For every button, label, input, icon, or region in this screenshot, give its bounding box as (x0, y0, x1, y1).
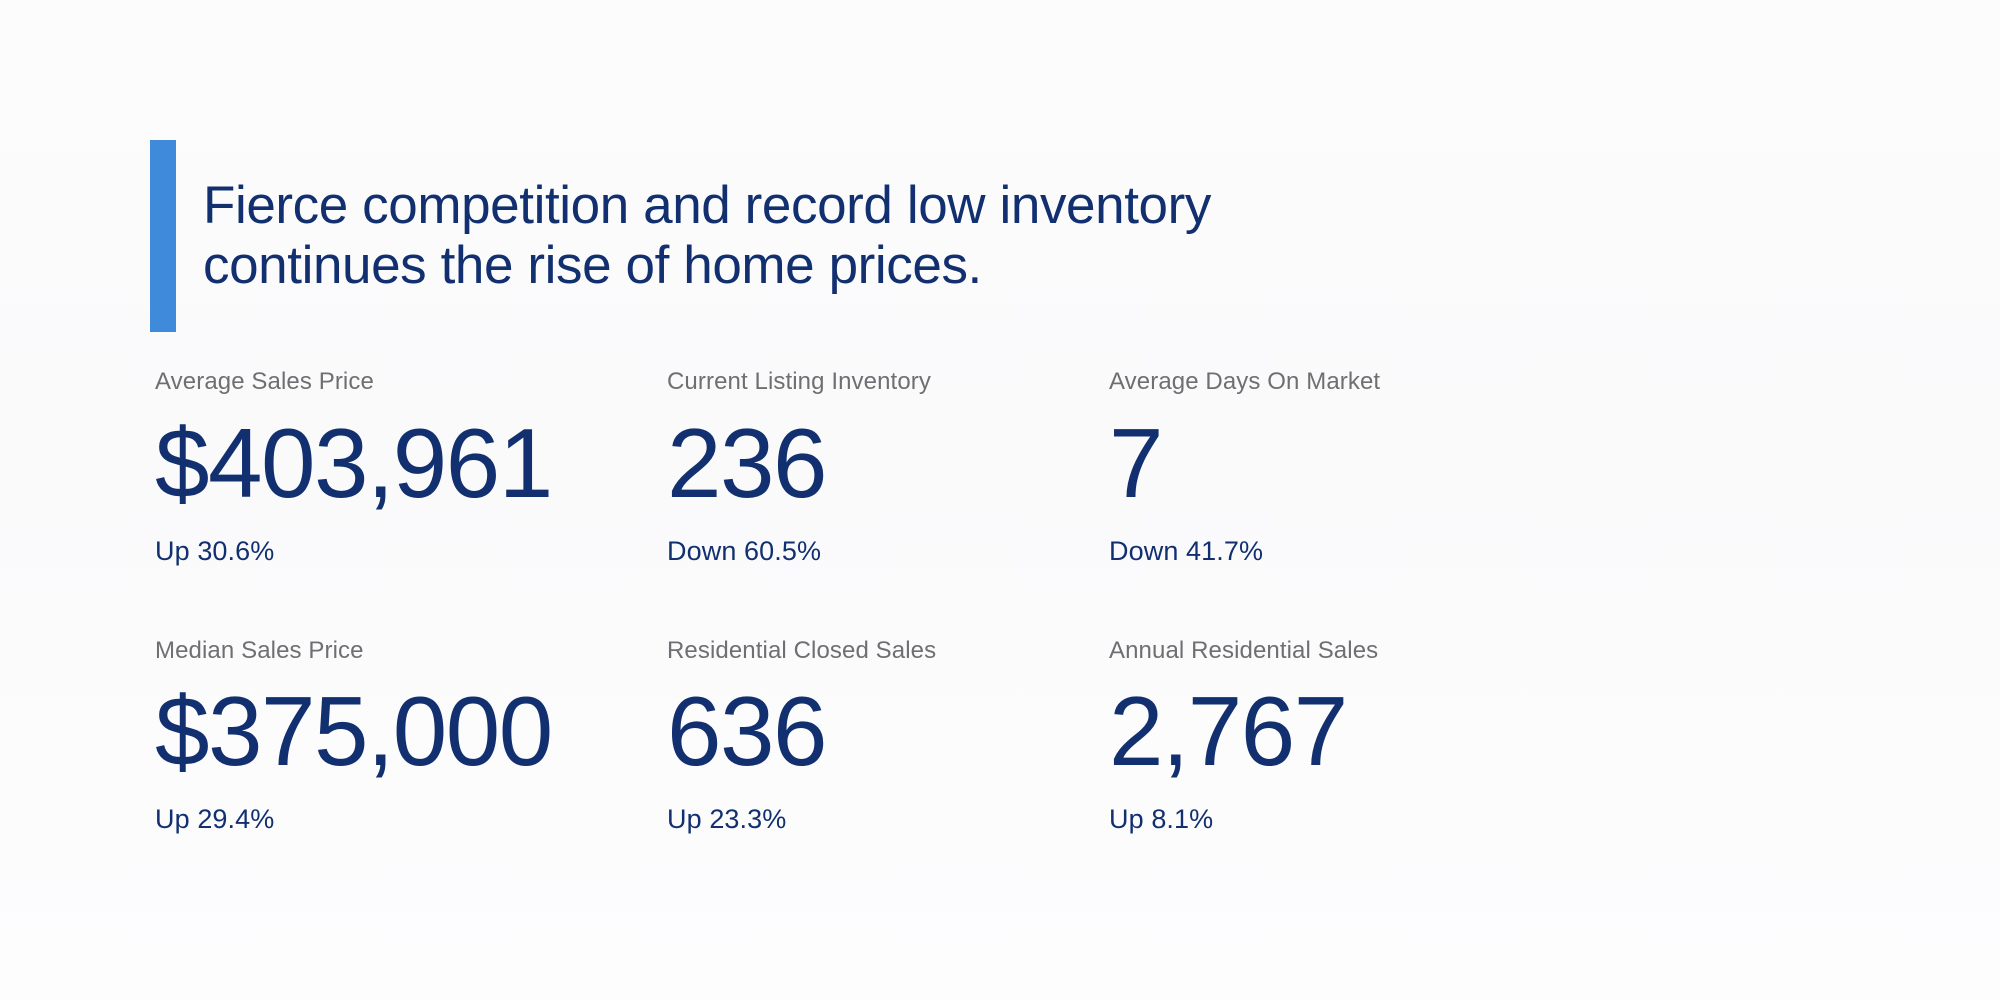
metric-value: $403,961 (155, 414, 667, 512)
metric-delta: Up 8.1% (1109, 804, 1609, 835)
metric-card-residential-closed-sales: Residential Closed Sales 636 Up 23.3% (667, 637, 1109, 836)
metric-value: 636 (667, 682, 1109, 780)
metric-delta: Down 41.7% (1109, 536, 1609, 567)
headline-block: Fierce competition and record low invent… (150, 140, 1211, 332)
metric-card-median-sales-price: Median Sales Price $375,000 Up 29.4% (155, 637, 667, 836)
metric-value: 236 (667, 414, 1109, 512)
metric-card-average-sales-price: Average Sales Price $403,961 Up 30.6% (155, 368, 667, 567)
metric-delta: Down 60.5% (667, 536, 1109, 567)
metric-label: Median Sales Price (155, 637, 667, 665)
metric-label: Residential Closed Sales (667, 637, 1109, 665)
metric-card-current-listing-inventory: Current Listing Inventory 236 Down 60.5% (667, 368, 1109, 567)
metric-value: $375,000 (155, 682, 667, 780)
metric-value: 7 (1109, 414, 1609, 512)
report-canvas: Fierce competition and record low invent… (0, 0, 2000, 1000)
metric-delta: Up 30.6% (155, 536, 667, 567)
metrics-grid: Average Sales Price $403,961 Up 30.6% Cu… (155, 368, 1855, 835)
page-title: Fierce competition and record low invent… (203, 176, 1211, 297)
metric-delta: Up 29.4% (155, 804, 667, 835)
metric-delta: Up 23.3% (667, 804, 1109, 835)
metric-card-annual-residential-sales: Annual Residential Sales 2,767 Up 8.1% (1109, 637, 1609, 836)
metric-value: 2,767 (1109, 682, 1609, 780)
metric-label: Average Days On Market (1109, 368, 1609, 396)
metric-label: Current Listing Inventory (667, 368, 1109, 396)
metric-label: Average Sales Price (155, 368, 667, 396)
accent-bar (150, 140, 176, 332)
metric-label: Annual Residential Sales (1109, 637, 1609, 665)
metric-card-average-days-on-market: Average Days On Market 7 Down 41.7% (1109, 368, 1609, 567)
